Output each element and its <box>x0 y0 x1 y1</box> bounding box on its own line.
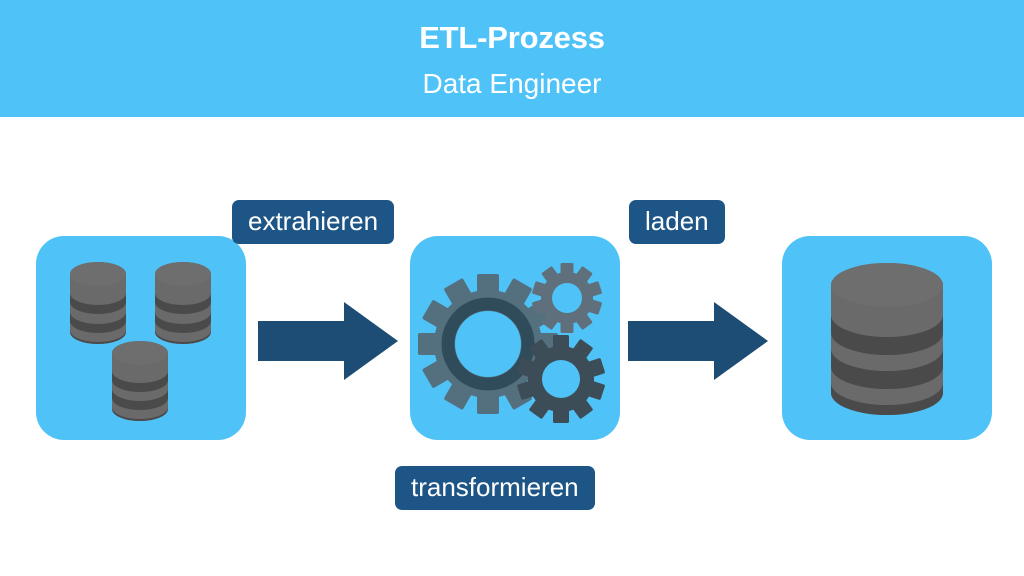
step-panel-extract[interactable] <box>36 236 246 440</box>
header-banner: ETL-Prozess Data Engineer <box>0 0 1024 117</box>
step-panel-load[interactable] <box>782 236 992 440</box>
step-label-extract[interactable]: extrahieren <box>232 200 394 244</box>
step-label-load[interactable]: laden <box>629 200 725 244</box>
page-subtitle: Data Engineer <box>0 68 1024 100</box>
database-icon <box>782 236 992 440</box>
etl-process-diagram: extrahieren laden transformieren <box>0 117 1024 576</box>
step-label-transform[interactable]: transformieren <box>395 466 595 510</box>
arrow-right-icon <box>258 302 398 380</box>
multiple-databases-icon <box>36 236 246 440</box>
page-title: ETL-Prozess <box>0 20 1024 56</box>
gears-icon <box>410 236 620 440</box>
step-panel-transform[interactable] <box>410 236 620 440</box>
arrow-right-icon <box>628 302 768 380</box>
